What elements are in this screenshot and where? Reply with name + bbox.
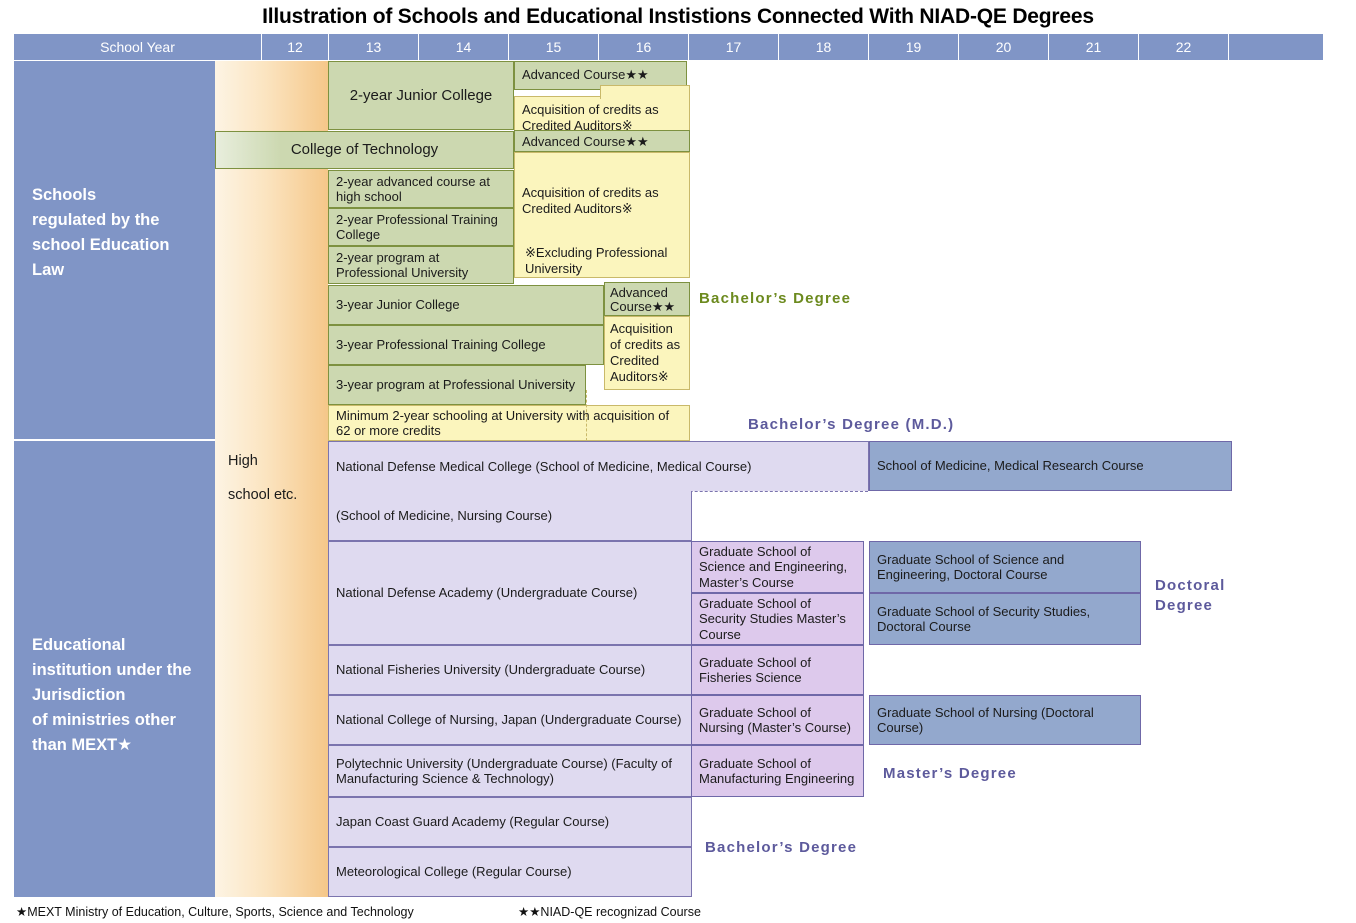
year-col-blank: [1229, 34, 1323, 60]
yellow-vertical-divider: [586, 390, 587, 441]
box-credited-auditors-3year: Acquisition of credits as Credited Audit…: [604, 316, 690, 390]
year-col-14: 14: [419, 34, 509, 60]
box-national-defense-academy: National Defense Academy (Undergraduate …: [328, 541, 692, 645]
doctoral-degree-line-2: Degree: [1155, 596, 1225, 616]
box-school-of-medicine-medical-research-course: School of Medicine, Medical Research Cou…: [869, 441, 1232, 491]
year-col-19: 19: [869, 34, 959, 60]
box-national-college-of-nursing: National College of Nursing, Japan (Unde…: [328, 695, 692, 745]
box-2year-program-professional-university: 2-year program at Professional Universit…: [328, 246, 514, 284]
box-credited-auditors-junior-college-notch: [600, 85, 690, 99]
box-gs-security-studies-masters: Graduate School of Security Studies Mast…: [691, 593, 864, 645]
cat-top-line-1: Schools: [32, 183, 215, 208]
cat-bottom-line-5: than MEXT★: [32, 733, 215, 758]
label-bachelors-degree-md: Bachelor’s Degree (M.D.): [748, 416, 954, 433]
year-col-13: 13: [329, 34, 419, 60]
label-masters-degree: Master’s Degree: [883, 765, 1017, 782]
cat-bottom-line-2: institution under the: [32, 658, 215, 683]
box-gs-science-engineering-masters: Graduate School of Science and Engineeri…: [691, 541, 864, 593]
box-gs-manufacturing-engineering: Graduate School of Manufacturing Enginee…: [691, 745, 864, 797]
box-meteorological-college: Meteorological College (Regular Course): [328, 847, 692, 897]
box-advanced-course-college-of-technology: Advanced Course★★: [514, 130, 690, 152]
cat-top-line-2: regulated by the: [32, 208, 215, 233]
year-col-12: 12: [262, 34, 329, 60]
box-advanced-course-3year: Advanced Course★★: [604, 282, 690, 316]
box-school-of-medicine-nursing-course: (School of Medicine, Nursing Course): [328, 491, 692, 541]
box-gs-nursing-doctoral: Graduate School of Nursing (Doctoral Cou…: [869, 695, 1141, 745]
year-col-15: 15: [509, 34, 599, 60]
diagram-root: Illustration of Schools and Educational …: [0, 0, 1356, 923]
box-3year-program-professional-university: 3-year program at Professional Universit…: [328, 365, 586, 405]
box-2year-professional-training-college: 2-year Professional Training College: [328, 208, 514, 246]
box-gs-security-studies-doctoral: Graduate School of Security Studies, Doc…: [869, 593, 1141, 645]
header-school-year-label: School Year: [14, 34, 262, 60]
year-col-16: 16: [599, 34, 689, 60]
box-minimum-2year-university: Minimum 2-year schooling at University w…: [328, 405, 690, 441]
high-school-line-1: High: [228, 444, 328, 478]
label-bachelors-degree-green: Bachelor’s Degree: [699, 290, 851, 307]
box-3year-junior-college: 3-year Junior College: [328, 285, 604, 325]
box-national-fisheries-university: National Fisheries University (Undergrad…: [328, 645, 692, 695]
label-bachelors-degree-purple: Bachelor’s Degree: [705, 839, 857, 856]
box-national-defense-medical-college: National Defense Medical College (School…: [328, 441, 869, 491]
box-gs-science-engineering-doctoral: Graduate School of Science and Engineeri…: [869, 541, 1141, 593]
high-school-label: High school etc.: [228, 444, 328, 512]
cat-bottom-line-4: of ministries other: [32, 708, 215, 733]
cat-top-line-3: school Education: [32, 233, 215, 258]
doctoral-degree-line-1: Doctoral: [1155, 576, 1225, 596]
cat-bottom-line-3: Jurisdiction: [32, 683, 215, 708]
box-college-of-technology: College of Technology: [215, 131, 514, 169]
year-col-18: 18: [779, 34, 869, 60]
category-other-ministries: Educational institution under the Jurisd…: [14, 441, 215, 897]
box-japan-coast-guard-academy: Japan Coast Guard Academy (Regular Cours…: [328, 797, 692, 847]
cat-top-line-4: Law: [32, 258, 215, 283]
box-2year-advanced-course-high-school: 2-year advanced course at high school: [328, 170, 514, 208]
box-credited-auditors-junior-college: Acquisition of credits as Credited Audit…: [514, 96, 690, 134]
page-title: Illustration of Schools and Educational …: [0, 2, 1356, 32]
year-col-22: 22: [1139, 34, 1229, 60]
box-gs-fisheries-science: Graduate School of Fisheries Science: [691, 645, 864, 695]
year-col-20: 20: [959, 34, 1049, 60]
box-gs-nursing-masters: Graduate School of Nursing (Master’s Cou…: [691, 695, 864, 745]
box-3year-professional-training-college: 3-year Professional Training College: [328, 325, 604, 365]
cat-bottom-line-1: Educational: [32, 633, 215, 658]
high-school-line-2: school etc.: [228, 478, 328, 512]
footnote-mext: ★MEXT Ministry of Education, Culture, Sp…: [16, 904, 414, 919]
label-doctoral-degree: Doctoral Degree: [1155, 576, 1225, 616]
year-col-21: 21: [1049, 34, 1139, 60]
category-school-education-law: Schools regulated by the school Educatio…: [14, 61, 215, 439]
footnote-niad: ★★NIAD-QE recognizad Course: [518, 904, 701, 919]
year-header-bar: School Year 12 13 14 15 16 17 18 19 20 2…: [14, 34, 1323, 60]
year-col-17: 17: [689, 34, 779, 60]
box-excluding-professional-university-note: ※Excluding Professional University: [518, 240, 688, 278]
box-polytechnic-university: Polytechnic University (Undergraduate Co…: [328, 745, 692, 797]
box-2year-junior-college: 2-year Junior College: [328, 61, 514, 130]
